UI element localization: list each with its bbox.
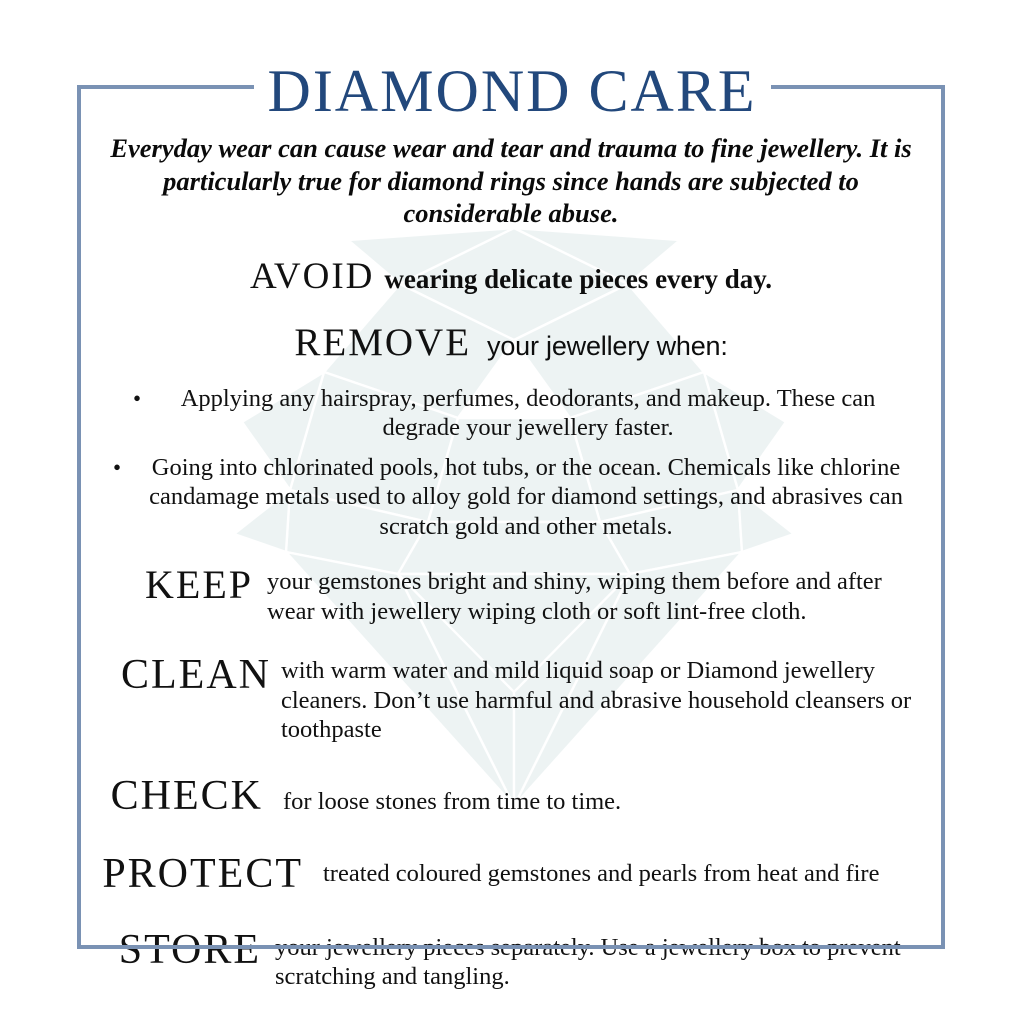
section-keyword: CLEAN (81, 652, 271, 698)
section-keyword: KEEP (81, 563, 253, 607)
frame-right-border (941, 85, 945, 949)
intro-paragraph: Everyday wear can cause wear and tear an… (81, 132, 941, 230)
section-clean: CLEAN with warm water and mild liquid so… (81, 652, 941, 745)
list-item-text: Applying any hairspray, perfumes, deodor… (141, 384, 905, 443)
diamond-care-poster: DIAMOND CARE Everyday wear can cause wea… (0, 0, 1024, 1024)
frame-left-border (77, 85, 81, 949)
avoid-keyword: AVOID (250, 256, 374, 297)
bullet-dot-icon: • (113, 453, 121, 482)
section-protect: PROTECT treated coloured gemstones and p… (81, 851, 941, 897)
list-item: • Applying any hairspray, perfumes, deod… (81, 384, 941, 443)
section-keyword: PROTECT (81, 851, 303, 897)
remove-text: your jewellery when: (487, 331, 728, 361)
section-text: your gemstones bright and shiny, wiping … (253, 563, 941, 626)
bullet-dot-icon: • (133, 384, 141, 413)
section-keyword: CHECK (81, 773, 263, 819)
section-text: for loose stones from time to time. (263, 773, 941, 817)
section-keep: KEEP your gemstones bright and shiny, wi… (81, 563, 941, 626)
section-keyword: STORE (81, 927, 261, 973)
avoid-text: wearing delicate pieces every day. (384, 264, 772, 294)
remove-keyword: REMOVE (294, 321, 471, 364)
frame-bottom-border (77, 945, 945, 949)
section-store: STORE your jewellery pieces separately. … (81, 927, 941, 992)
page-title: DIAMOND CARE (0, 59, 1024, 123)
avoid-line: AVOIDwearing delicate pieces every day. (81, 255, 941, 298)
section-check: CHECK for loose stones from time to time… (81, 773, 941, 819)
section-text: with warm water and mild liquid soap or … (271, 652, 941, 745)
remove-line: REMOVEyour jewellery when: (81, 320, 941, 365)
poster-content: Everyday wear can cause wear and tear an… (81, 89, 941, 945)
list-item: • Going into chlorinated pools, hot tubs… (81, 453, 941, 542)
remove-bullet-list: • Applying any hairspray, perfumes, deod… (81, 384, 941, 542)
section-text: treated coloured gemstones and pearls fr… (303, 851, 941, 889)
page-title-text: DIAMOND CARE (254, 59, 771, 123)
list-item-text: Going into chlorinated pools, hot tubs, … (121, 453, 923, 542)
section-text: your jewellery pieces separately. Use a … (261, 927, 941, 992)
